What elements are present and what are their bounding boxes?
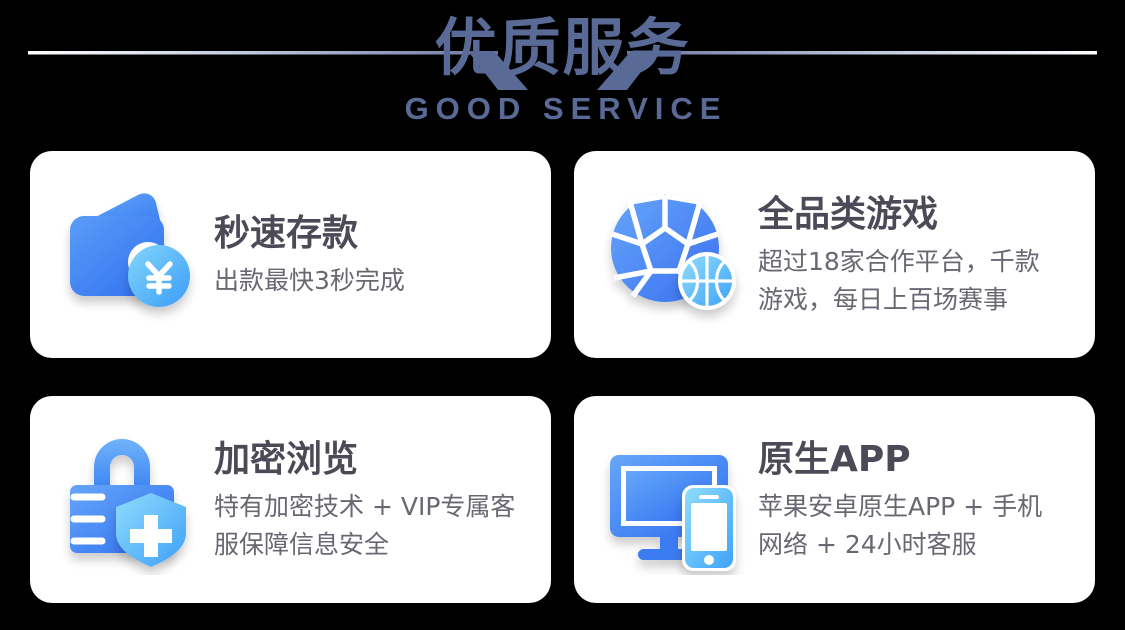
card-subtitle-line: 网络 + 24小时客服 <box>758 526 1042 564</box>
card-text-block: 加密浏览 特有加密技术 + VIP专属客 服保障信息安全 <box>206 436 529 564</box>
card-title: 原生APP <box>758 436 1042 484</box>
card-subtitle-line: 超过18家合作平台，千款 <box>758 243 1040 281</box>
soccer-basketball-icon <box>600 180 750 330</box>
card-title: 全品类游戏 <box>758 191 1040 239</box>
header-title-block: 优质服务 GOOD SERVICE <box>0 4 1125 126</box>
feature-card-deposit[interactable]: 秒速存款 出款最快3秒完成 <box>30 151 551 358</box>
card-title: 加密浏览 <box>214 436 515 484</box>
card-subtitle-line: 服保障信息安全 <box>214 526 515 564</box>
card-subtitle-line: 出款最快3秒完成 <box>214 262 405 300</box>
feature-card-native-app[interactable]: 原生APP 苹果安卓原生APP + 手机 网络 + 24小时客服 <box>574 396 1095 603</box>
card-text-block: 秒速存款 出款最快3秒完成 <box>206 210 419 300</box>
page-subtitle: GOOD SERVICE <box>0 92 1125 126</box>
card-text-block: 全品类游戏 超过18家合作平台，千款 游戏，每日上百场赛事 <box>750 191 1054 319</box>
monitor-phone-icon <box>600 425 750 575</box>
feature-card-encryption[interactable]: 加密浏览 特有加密技术 + VIP专属客 服保障信息安全 <box>30 396 551 603</box>
card-text-block: 原生APP 苹果安卓原生APP + 手机 网络 + 24小时客服 <box>750 436 1056 564</box>
page-title: 优质服务 <box>0 4 1125 92</box>
card-subtitle-line: 特有加密技术 + VIP专属客 <box>214 488 515 526</box>
wallet-yen-icon <box>56 180 206 330</box>
card-subtitle-line: 游戏，每日上百场赛事 <box>758 281 1040 319</box>
lock-shield-icon <box>56 425 206 575</box>
page-header: 优质服务 GOOD SERVICE <box>0 0 1125 148</box>
card-subtitle-line: 苹果安卓原生APP + 手机 <box>758 488 1042 526</box>
feature-card-grid: 秒速存款 出款最快3秒完成 <box>30 151 1095 603</box>
card-title: 秒速存款 <box>214 210 405 258</box>
feature-card-games[interactable]: 全品类游戏 超过18家合作平台，千款 游戏，每日上百场赛事 <box>574 151 1095 358</box>
